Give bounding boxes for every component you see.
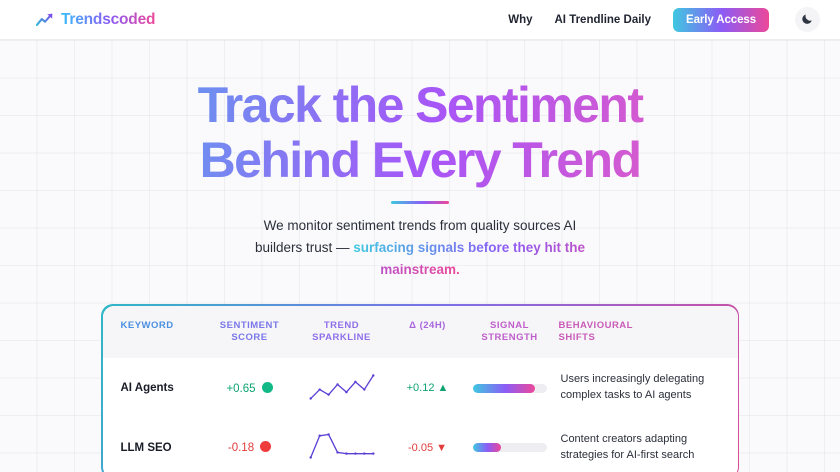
column-header-behavioural-shifts[interactable]: BEHAVIOURALSHIFTS — [559, 306, 738, 359]
trend-table-head: KEYWORD SENTIMENTSCORE TRENDSPARKLINE Δ … — [103, 306, 738, 359]
site-header: Trendscoded Why AI Trendline Daily Early… — [0, 0, 840, 40]
headline-line-2: Behind Every Trend — [200, 132, 641, 188]
column-header-keyword[interactable]: KEYWORD — [103, 306, 211, 359]
nav-link-why[interactable]: Why — [508, 14, 532, 26]
table-row[interactable]: LLM SEO -0.18 -0.05 ▼ Content creators a… — [103, 418, 738, 472]
row-behavioural-shift: Content creators adapting strategies for… — [559, 418, 738, 472]
row-trend-sparkline — [295, 358, 395, 418]
row-sentiment-score: +0.65 — [211, 358, 295, 418]
sentiment-status-dot — [262, 382, 273, 393]
table-row[interactable]: AI Agents +0.65 +0.12 ▲ Users increasing… — [103, 358, 738, 418]
brand-logo[interactable]: Trendscoded — [36, 11, 155, 29]
gradient-divider — [391, 201, 449, 204]
subtitle-accent-text: surfacing signals before they hit the ma… — [353, 240, 585, 277]
signal-strength-bar — [473, 443, 547, 452]
column-header-delta-24h[interactable]: Δ (24H) — [395, 306, 467, 359]
hero-section: Track the Sentiment Behind Every Trend W… — [0, 40, 840, 281]
hero-subtitle: We monitor sentiment trends from quality… — [249, 215, 591, 281]
row-sentiment-score: -0.18 — [211, 418, 295, 472]
headline-line-1: Track the Sentiment — [198, 77, 643, 133]
table-header-row: KEYWORD SENTIMENTSCORE TRENDSPARKLINE Δ … — [103, 306, 738, 359]
column-header-sentiment-score[interactable]: SENTIMENTSCORE — [211, 306, 295, 359]
trend-table-body: AI Agents +0.65 +0.12 ▲ Users increasing… — [103, 358, 738, 472]
sparkline-chart-icon — [304, 392, 380, 404]
trend-table: KEYWORD SENTIMENTSCORE TRENDSPARKLINE Δ … — [103, 306, 738, 472]
column-header-signal-strength[interactable]: SIGNALSTRENGTH — [467, 306, 559, 359]
row-signal-strength — [467, 358, 559, 418]
moon-icon — [801, 12, 814, 28]
row-keyword: AI Agents — [103, 358, 211, 418]
signal-strength-bar — [473, 384, 547, 393]
row-delta-24h: +0.12 ▲ — [395, 358, 467, 418]
row-delta-24h: -0.05 ▼ — [395, 418, 467, 472]
sentiment-status-dot — [260, 441, 271, 452]
row-trend-sparkline — [295, 418, 395, 472]
page-title: Track the Sentiment Behind Every Trend — [0, 78, 840, 188]
nav-link-ai-trendline-daily[interactable]: AI Trendline Daily — [555, 14, 652, 26]
row-signal-strength — [467, 418, 559, 472]
trend-arrow-icon — [36, 12, 54, 27]
main-nav: Why AI Trendline Daily Early Access — [508, 7, 820, 32]
sparkline-chart-icon — [304, 451, 380, 463]
row-keyword: LLM SEO — [103, 418, 211, 472]
trend-table-card: KEYWORD SENTIMENTSCORE TRENDSPARKLINE Δ … — [101, 304, 739, 472]
row-behavioural-shift: Users increasingly delegating complex ta… — [559, 358, 738, 418]
column-header-trend-sparkline[interactable]: TRENDSPARKLINE — [295, 306, 395, 359]
theme-toggle-button[interactable] — [795, 7, 820, 32]
brand-name: Trendscoded — [61, 11, 155, 29]
early-access-button[interactable]: Early Access — [673, 8, 769, 32]
